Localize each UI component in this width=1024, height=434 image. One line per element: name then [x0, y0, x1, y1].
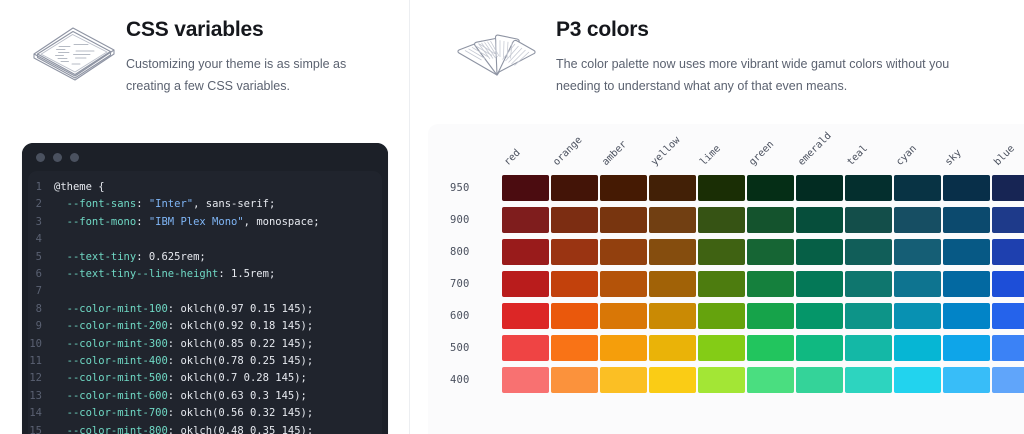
code-line-number: 10: [28, 336, 54, 353]
code-content[interactable]: 1@theme {2 --font-sans: "Inter", sans-se…: [28, 171, 382, 434]
code-line-number: 4: [28, 231, 54, 248]
code-line-content: --text-tiny--line-height: 1.5rem;: [54, 266, 275, 283]
color-swatch[interactable]: [747, 207, 794, 233]
code-line: 13 --color-mint-600: oklch(0.63 0.3 145)…: [28, 388, 382, 405]
color-swatch[interactable]: [502, 207, 549, 233]
code-line-number: 2: [28, 196, 54, 213]
color-swatch[interactable]: [992, 239, 1024, 265]
color-swatch[interactable]: [747, 335, 794, 361]
feature-panels-page: CSS variables Customizing your theme is …: [0, 0, 1024, 434]
color-swatch[interactable]: [992, 335, 1024, 361]
color-swatch[interactable]: [845, 335, 892, 361]
code-token: : oklch(0.7 0.28 145);: [168, 372, 307, 384]
code-token: : oklch(0.85 0.22 145);: [168, 338, 313, 350]
color-swatch[interactable]: [992, 207, 1024, 233]
css-variables-description: Customizing your theme is as simple as c…: [126, 53, 390, 97]
color-swatch[interactable]: [649, 175, 696, 201]
color-swatch[interactable]: [649, 239, 696, 265]
color-swatch[interactable]: [894, 367, 941, 393]
color-swatch[interactable]: [600, 303, 647, 329]
code-line: 10 --color-mint-300: oklch(0.85 0.22 145…: [28, 336, 382, 353]
palette-column-label-text: teal: [845, 143, 870, 168]
p3-colors-title: P3 colors: [556, 16, 1004, 44]
color-swatch[interactable]: [747, 367, 794, 393]
code-token: : oklch(0.48 0.35 145);: [168, 425, 313, 434]
window-minimize-dot[interactable]: [53, 153, 62, 162]
code-token: --color-mint-600: [54, 390, 168, 402]
code-line: 2 --font-sans: "Inter", sans-serif;: [28, 196, 382, 213]
color-swatch[interactable]: [649, 207, 696, 233]
palette-column-label: lime: [698, 124, 747, 172]
code-line-number: 1: [28, 179, 54, 196]
code-line: 11 --color-mint-400: oklch(0.78 0.25 145…: [28, 353, 382, 370]
code-token: "IBM Plex Mono": [149, 216, 244, 228]
p3-colors-text: P3 colors The color palette now uses mor…: [556, 14, 1004, 97]
color-swatch[interactable]: [894, 303, 941, 329]
code-token: --color-mint-200: [54, 320, 168, 332]
isometric-code-card-icon: [22, 14, 126, 86]
code-line-number: 15: [28, 423, 54, 434]
code-token: "Inter": [149, 198, 193, 210]
color-swatch[interactable]: [600, 239, 647, 265]
code-token: --color-mint-400: [54, 355, 168, 367]
palette-column-label: green: [747, 124, 796, 172]
code-token: : 1.5rem;: [218, 268, 275, 280]
color-swatch[interactable]: [747, 175, 794, 201]
color-swatch[interactable]: [943, 335, 990, 361]
palette-row-label: 950: [428, 182, 502, 194]
code-line-content: --font-mono: "IBM Plex Mono", monospace;: [54, 214, 320, 231]
color-swatch[interactable]: [502, 335, 549, 361]
palette-row-label: 600: [428, 310, 502, 322]
code-line-content: --color-mint-400: oklch(0.78 0.25 145);: [54, 353, 313, 370]
code-line-content: --color-mint-800: oklch(0.48 0.35 145);: [54, 423, 313, 434]
color-swatch[interactable]: [600, 271, 647, 297]
color-swatch[interactable]: [894, 271, 941, 297]
code-token: : oklch(0.56 0.32 145);: [168, 407, 313, 419]
palette-row-label: 700: [428, 278, 502, 290]
palette-column-label-text: blue: [992, 143, 1017, 168]
color-swatch[interactable]: [992, 303, 1024, 329]
color-swatch[interactable]: [747, 303, 794, 329]
palette-column-label-text: lime: [698, 143, 723, 168]
css-variables-panel: CSS variables Customizing your theme is …: [0, 0, 410, 434]
color-swatch[interactable]: [600, 367, 647, 393]
color-swatch[interactable]: [649, 367, 696, 393]
color-palette-grid: redorangeamberyellowlimegreenemeraldteal…: [428, 124, 1024, 434]
code-line-number: 11: [28, 353, 54, 370]
color-swatch[interactable]: [992, 367, 1024, 393]
color-swatch[interactable]: [551, 239, 598, 265]
color-swatch[interactable]: [649, 303, 696, 329]
css-variables-title: CSS variables: [126, 16, 390, 44]
css-variables-text: CSS variables Customizing your theme is …: [126, 14, 390, 97]
palette-column-label-text: emerald: [796, 130, 834, 168]
color-swatch[interactable]: [796, 335, 843, 361]
code-line: 6 --text-tiny--line-height: 1.5rem;: [28, 266, 382, 283]
code-line-number: 14: [28, 405, 54, 422]
color-swatch[interactable]: [502, 303, 549, 329]
code-token: , monospace;: [244, 216, 320, 228]
palette-row: 400: [428, 364, 1024, 396]
code-token: {: [92, 181, 105, 193]
color-swatch[interactable]: [551, 303, 598, 329]
palette-column-labels: redorangeamberyellowlimegreenemeraldteal…: [502, 124, 1024, 172]
code-line-content: --font-sans: "Inter", sans-serif;: [54, 196, 275, 213]
color-swatch[interactable]: [747, 271, 794, 297]
color-swatch[interactable]: [600, 207, 647, 233]
color-fan-deck-icon: [438, 14, 556, 86]
palette-column-label-text: red: [502, 147, 523, 168]
code-line: 1@theme {: [28, 179, 382, 196]
color-swatch[interactable]: [845, 367, 892, 393]
code-token: : oklch(0.92 0.18 145);: [168, 320, 313, 332]
code-token: --text-tiny--line-height: [54, 268, 218, 280]
code-token: --text-tiny: [54, 251, 136, 263]
p3-colors-description: The color palette now uses more vibrant …: [556, 53, 976, 97]
palette-row: 900: [428, 204, 1024, 236]
palette-column-label: sky: [943, 124, 992, 172]
code-window: 1@theme {2 --font-sans: "Inter", sans-se…: [22, 143, 388, 434]
color-swatch[interactable]: [551, 271, 598, 297]
color-swatch[interactable]: [502, 367, 549, 393]
code-token: : oklch(0.63 0.3 145);: [168, 390, 307, 402]
css-variables-header: CSS variables Customizing your theme is …: [0, 0, 410, 97]
color-swatch[interactable]: [943, 303, 990, 329]
palette-column-label-text: orange: [551, 135, 584, 168]
code-line: 9 --color-mint-200: oklch(0.92 0.18 145)…: [28, 318, 382, 335]
color-swatch[interactable]: [796, 271, 843, 297]
code-window-titlebar: [22, 143, 388, 171]
palette-column-label: amber: [600, 124, 649, 172]
code-line: 4: [28, 231, 382, 248]
color-swatch[interactable]: [894, 239, 941, 265]
code-line-content: --color-mint-500: oklch(0.7 0.28 145);: [54, 370, 307, 387]
color-swatch[interactable]: [894, 175, 941, 201]
code-token: : 0.625rem;: [136, 251, 206, 263]
color-swatch[interactable]: [551, 367, 598, 393]
palette-column-label: cyan: [894, 124, 943, 172]
palette-row-label: 500: [428, 342, 502, 354]
code-line-content: --color-mint-700: oklch(0.56 0.32 145);: [54, 405, 313, 422]
p3-colors-panel: P3 colors The color palette now uses mor…: [420, 0, 1024, 434]
code-token: , sans-serif;: [193, 198, 275, 210]
code-line-content: --text-tiny: 0.625rem;: [54, 249, 206, 266]
code-line-content: --color-mint-600: oklch(0.63 0.3 145);: [54, 388, 307, 405]
palette-row-label: 800: [428, 246, 502, 258]
color-swatch[interactable]: [649, 335, 696, 361]
code-token: --color-mint-100: [54, 303, 168, 315]
code-token: @theme: [54, 181, 92, 193]
color-swatch[interactable]: [943, 271, 990, 297]
code-line-number: 8: [28, 301, 54, 318]
color-swatch[interactable]: [747, 239, 794, 265]
code-token: --color-mint-300: [54, 338, 168, 350]
color-swatch[interactable]: [894, 207, 941, 233]
palette-column-label-text: yellow: [649, 135, 682, 168]
color-swatch[interactable]: [943, 239, 990, 265]
color-swatch[interactable]: [845, 271, 892, 297]
palette-column-label: red: [502, 124, 551, 172]
palette-column-label-text: sky: [943, 147, 964, 168]
code-line-number: 5: [28, 249, 54, 266]
color-swatch[interactable]: [698, 335, 745, 361]
color-swatch[interactable]: [698, 303, 745, 329]
palette-row: 950: [428, 172, 1024, 204]
code-token: --color-mint-500: [54, 372, 168, 384]
code-token: --font-sans: [54, 198, 136, 210]
color-swatch[interactable]: [796, 367, 843, 393]
code-line-content: @theme {: [54, 179, 105, 196]
code-token: --font-mono: [54, 216, 136, 228]
color-swatch[interactable]: [943, 207, 990, 233]
palette-column-label: emerald: [796, 124, 845, 172]
code-line: 14 --color-mint-700: oklch(0.56 0.32 145…: [28, 405, 382, 422]
palette-row-label: 400: [428, 374, 502, 386]
color-swatch[interactable]: [992, 175, 1024, 201]
color-swatch[interactable]: [649, 271, 696, 297]
palette-inner: redorangeamberyellowlimegreenemeraldteal…: [428, 124, 1024, 396]
code-token: : oklch(0.97 0.15 145);: [168, 303, 313, 315]
code-token: --color-mint-700: [54, 407, 168, 419]
code-line-number: 7: [28, 283, 54, 300]
palette-rows: 950900800700600500400: [428, 172, 1024, 396]
color-swatch[interactable]: [845, 239, 892, 265]
code-token: :: [136, 216, 149, 228]
code-line: 12 --color-mint-500: oklch(0.7 0.28 145)…: [28, 370, 382, 387]
color-swatch[interactable]: [845, 303, 892, 329]
color-swatch[interactable]: [698, 175, 745, 201]
code-line-content: --color-mint-200: oklch(0.92 0.18 145);: [54, 318, 313, 335]
palette-row: 500: [428, 332, 1024, 364]
code-token: : oklch(0.78 0.25 145);: [168, 355, 313, 367]
color-swatch[interactable]: [698, 271, 745, 297]
color-swatch[interactable]: [796, 239, 843, 265]
color-swatch[interactable]: [845, 207, 892, 233]
code-line: 7: [28, 283, 382, 300]
palette-row: 700: [428, 268, 1024, 300]
color-swatch[interactable]: [698, 207, 745, 233]
color-swatch[interactable]: [502, 175, 549, 201]
color-swatch[interactable]: [600, 335, 647, 361]
palette-column-label: blue: [992, 124, 1024, 172]
p3-colors-header: P3 colors The color palette now uses mor…: [420, 0, 1024, 97]
code-line-number: 12: [28, 370, 54, 387]
window-close-dot[interactable]: [36, 153, 45, 162]
palette-column-label: teal: [845, 124, 894, 172]
palette-column-label: yellow: [649, 124, 698, 172]
code-line-number: 3: [28, 214, 54, 231]
color-swatch[interactable]: [600, 175, 647, 201]
code-line-number: 9: [28, 318, 54, 335]
color-swatch[interactable]: [845, 175, 892, 201]
code-token: --color-mint-800: [54, 425, 168, 434]
color-swatch[interactable]: [943, 175, 990, 201]
code-line-number: 13: [28, 388, 54, 405]
palette-row: 600: [428, 300, 1024, 332]
code-line: 5 --text-tiny: 0.625rem;: [28, 249, 382, 266]
palette-row-label: 900: [428, 214, 502, 226]
palette-row: 800: [428, 236, 1024, 268]
code-line: 3 --font-mono: "IBM Plex Mono", monospac…: [28, 214, 382, 231]
color-swatch[interactable]: [796, 175, 843, 201]
code-line: 15 --color-mint-800: oklch(0.48 0.35 145…: [28, 423, 382, 434]
window-maximize-dot[interactable]: [70, 153, 79, 162]
panel-divider: [410, 0, 420, 434]
color-swatch[interactable]: [943, 367, 990, 393]
palette-column-label-text: green: [747, 139, 776, 168]
color-swatch[interactable]: [698, 239, 745, 265]
color-swatch[interactable]: [551, 207, 598, 233]
code-token: :: [136, 198, 149, 210]
code-line-content: --color-mint-300: oklch(0.85 0.22 145);: [54, 336, 313, 353]
palette-column-label: orange: [551, 124, 600, 172]
palette-column-label-text: cyan: [894, 143, 919, 168]
color-swatch[interactable]: [502, 239, 549, 265]
code-line: 8 --color-mint-100: oklch(0.97 0.15 145)…: [28, 301, 382, 318]
color-swatch[interactable]: [894, 335, 941, 361]
color-swatch[interactable]: [502, 271, 549, 297]
color-swatch[interactable]: [698, 367, 745, 393]
color-swatch[interactable]: [551, 335, 598, 361]
code-line-content: --color-mint-100: oklch(0.97 0.15 145);: [54, 301, 313, 318]
palette-column-label-text: amber: [600, 139, 629, 168]
color-swatch[interactable]: [796, 303, 843, 329]
code-line-number: 6: [28, 266, 54, 283]
color-swatch[interactable]: [551, 175, 598, 201]
color-swatch[interactable]: [796, 207, 843, 233]
color-swatch[interactable]: [992, 271, 1024, 297]
